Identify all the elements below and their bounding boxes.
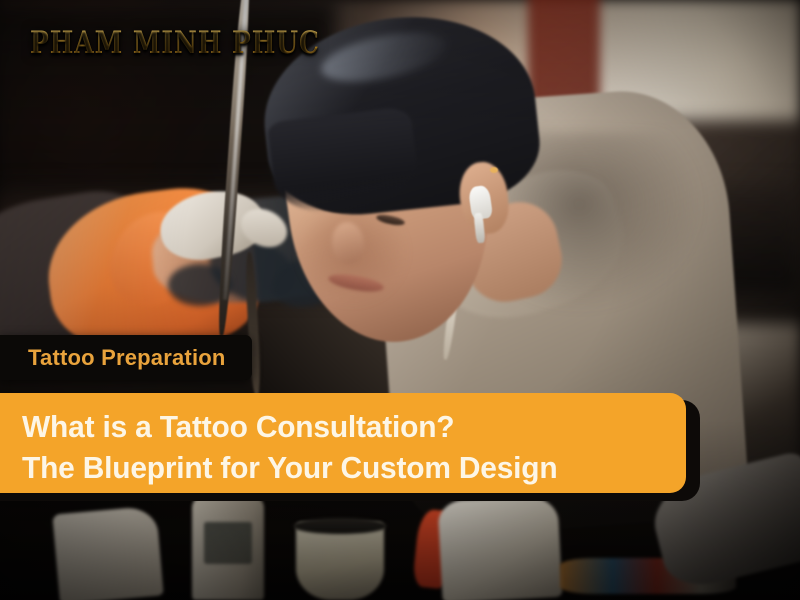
category-badge-label: Tattoo Preparation [28,345,226,371]
category-badge[interactable]: Tattoo Preparation [0,335,252,380]
blog-featured-image: PHAM MINH PHUC Tattoo Preparation What i… [0,0,800,600]
ear-piercing [490,167,498,173]
supply-cup-rim [293,518,387,534]
supply-bottle-label [204,522,252,564]
page-title-line-1: What is a Tattoo Consultation? [22,407,640,448]
supply-paper-towel [437,495,562,600]
background-photo [0,0,800,600]
title-banner: What is a Tattoo Consultation? The Bluep… [0,393,686,493]
supply-tissue-box [52,506,163,600]
brand-logo[interactable]: PHAM MINH PHUC [30,26,320,61]
page-title-line-2: The Blueprint for Your Custom Design [22,448,640,489]
